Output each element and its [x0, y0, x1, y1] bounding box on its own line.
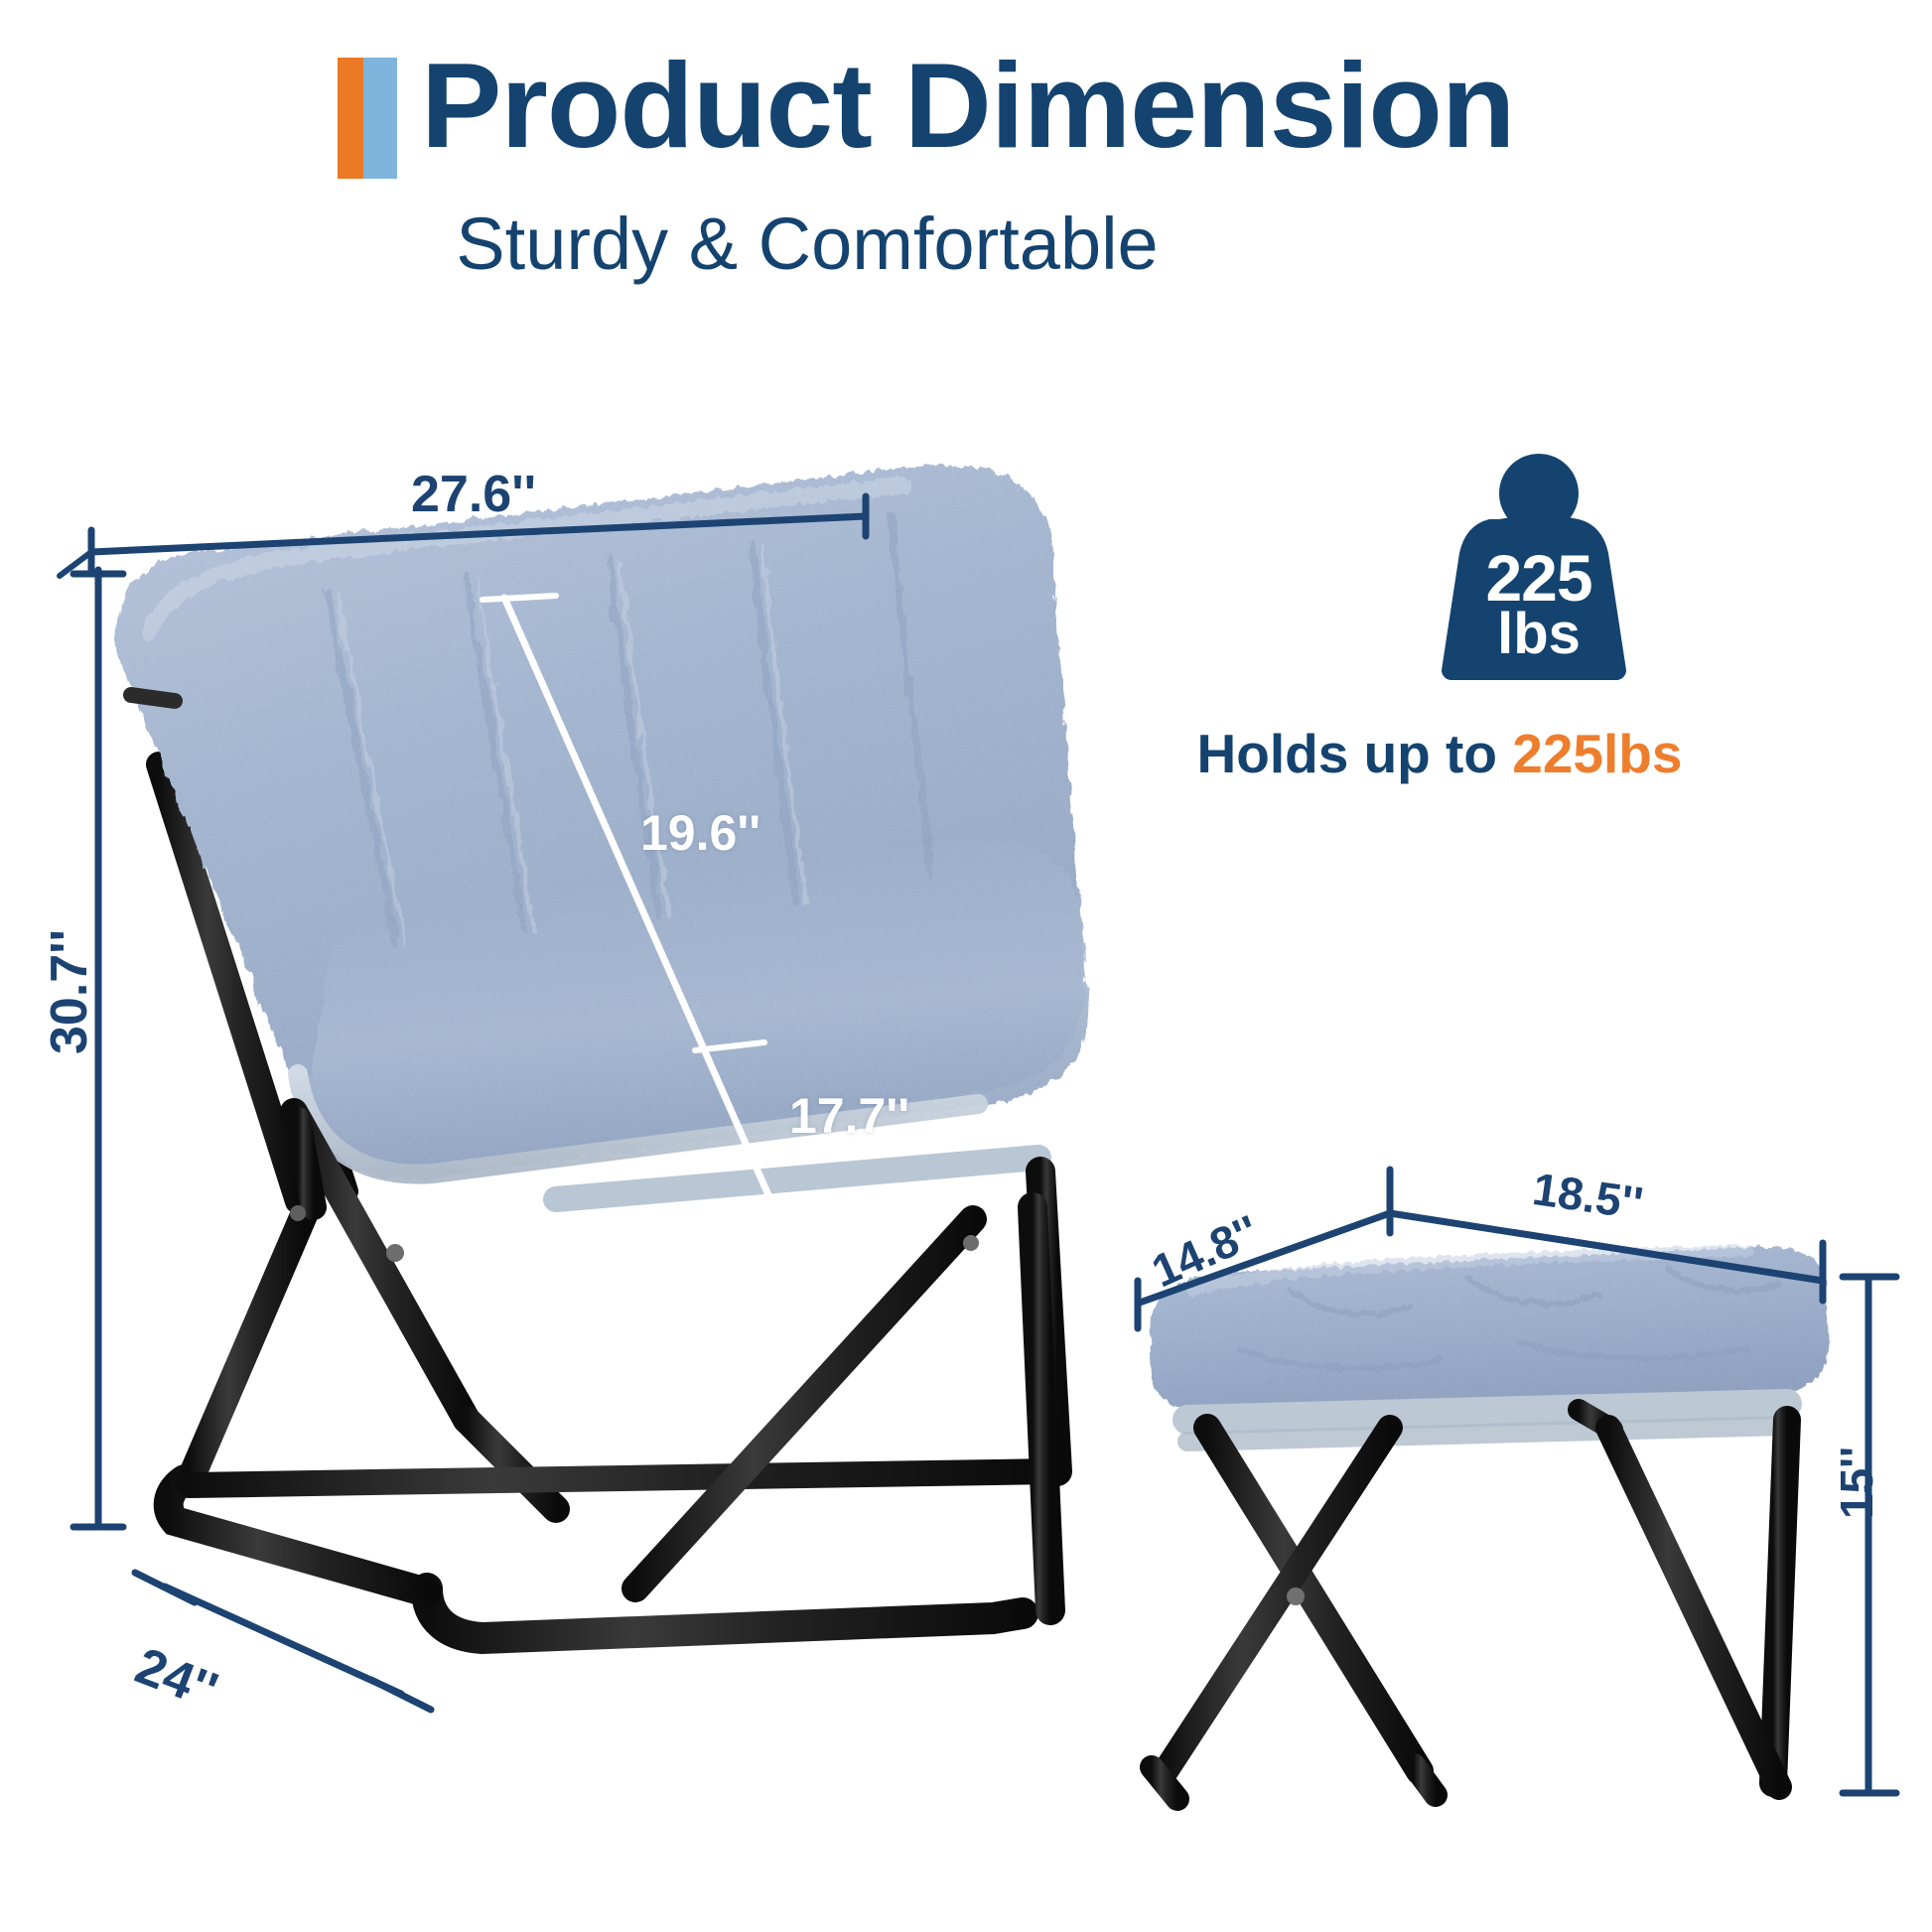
- chair-seat-depth-label: 17.7'': [789, 1087, 909, 1145]
- ottoman-frame: [1152, 1404, 1787, 1799]
- chair-height-label: 30.7'': [40, 929, 99, 1054]
- infographic-canvas: Product Dimension Sturdy & Comfortable 2…: [0, 0, 1932, 1932]
- ottoman-height-label: 15'': [1830, 1447, 1883, 1519]
- chair-back-height-label: 19.6'': [640, 804, 760, 862]
- chair-and-ottoman-illustration: [0, 0, 1932, 1932]
- ottoman-cushion: [1150, 1247, 1829, 1414]
- chair-width-label: 27.6'': [411, 465, 536, 524]
